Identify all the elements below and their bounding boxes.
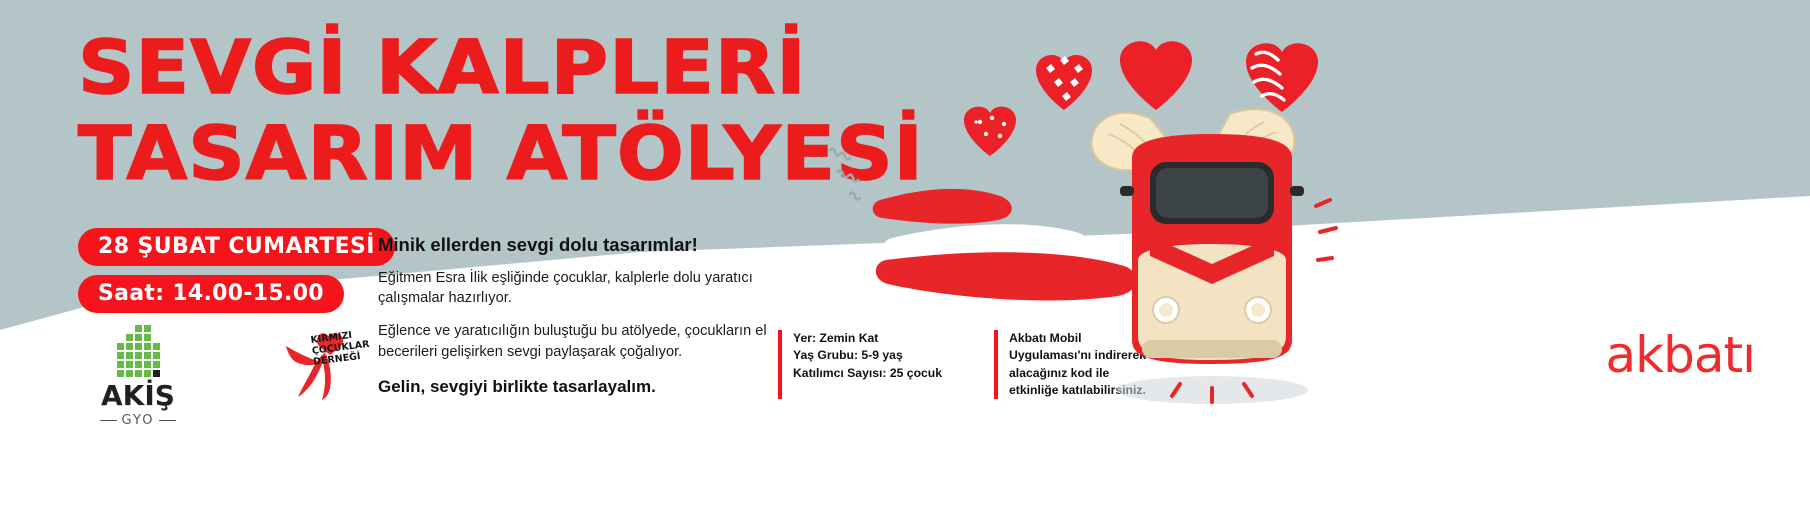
kirmizi-cocuklar-dernegi-logo: KIRMIZI ÇOCUKLAR DERNEĞİ [280,330,372,402]
copy-headline: Minik ellerden sevgi dolu tasarımlar! [378,234,798,256]
akbati-wordmark: akbatı [1606,330,1755,380]
schedule-badges: 28 ŞUBAT CUMARTESİ Saat: 14.00-15.00 [78,228,395,313]
kcd-wordmark: KIRMIZI ÇOCUKLAR DERNEĞİ [310,328,371,368]
akbati-logo: akbatı [1606,330,1755,380]
akis-subtitle: GYO [78,413,198,428]
akis-building-icon [78,325,198,377]
van-vehicle-icon [1120,134,1304,364]
akis-rule-left [100,420,117,422]
description-block: Minik ellerden sevgi dolu tasarımlar! Eğ… [378,234,798,398]
akis-rule-right [159,420,176,422]
copy-paragraph-1: Eğitmen Esra İlik eşliğinde çocuklar, ka… [378,268,798,308]
akis-wordmark: AKİŞ [78,382,198,410]
copy-paragraph-2: Eğlence ve yaratıcılığın buluştuğu bu at… [378,321,798,361]
akis-gyo-logo: AKİŞ GYO [78,325,198,428]
date-badge: 28 ŞUBAT CUMARTESİ [78,228,395,266]
event-title: SEVGİ KALPLERİ TASARIM ATÖLYESİ [78,32,938,190]
winged-van-illustration [820,10,1380,430]
copy-closing: Gelin, sevgiyi birlikte tasarlayalım. [378,375,798,398]
squiggle-marks-icon [830,149,860,200]
motion-swoosh-icon [873,189,1136,301]
akis-gyo-text: GYO [122,413,155,428]
time-badge: Saat: 14.00-15.00 [78,275,344,313]
promo-banner: SEVGİ KALPLERİ TASARIM ATÖLYESİ 28 ŞUBAT… [0,0,1810,510]
